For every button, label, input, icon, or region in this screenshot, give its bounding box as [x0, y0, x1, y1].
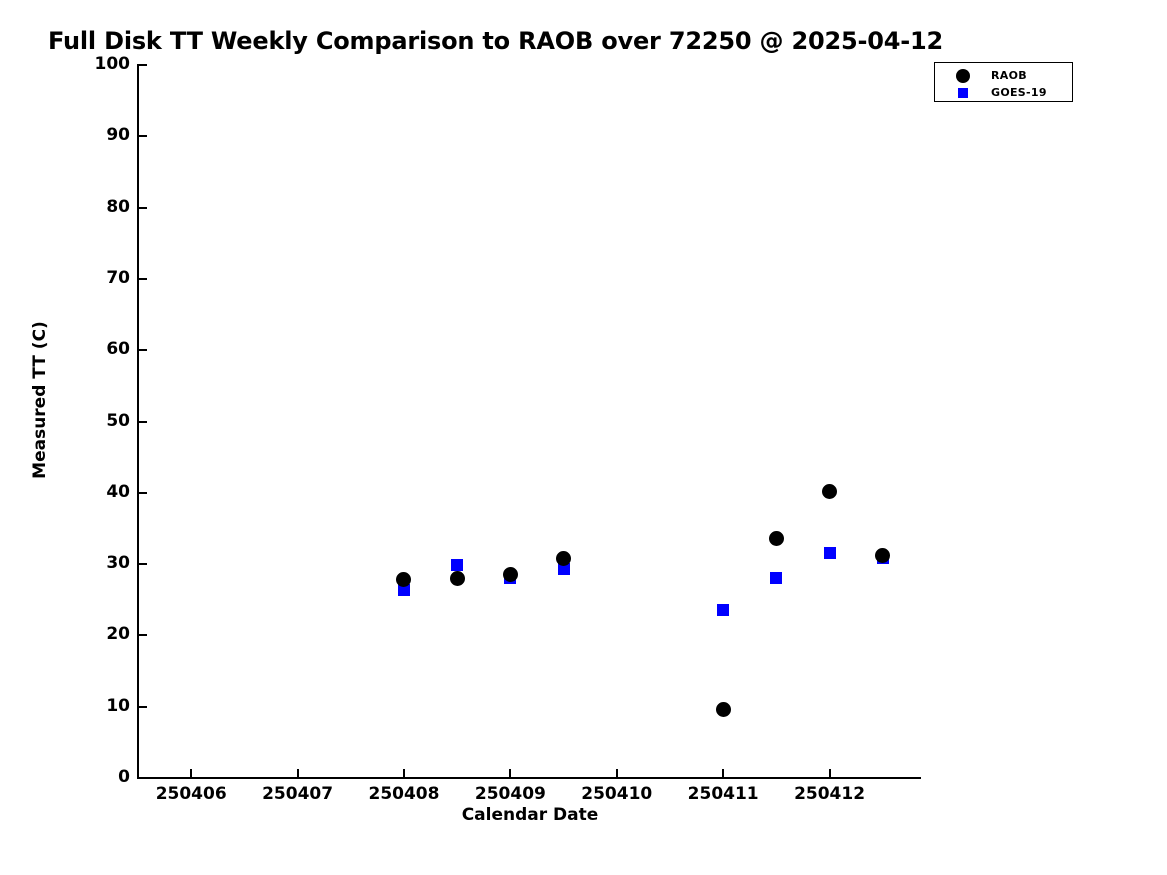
chart-figure: Full Disk TT Weekly Comparison to RAOB o… — [0, 0, 1167, 875]
legend-entry-raob: RAOB — [935, 67, 1074, 84]
y-tick — [139, 349, 147, 351]
x-tick — [297, 769, 299, 777]
data-point-raob — [716, 702, 731, 717]
y-axis-label: Measured TT (C) — [30, 270, 50, 530]
y-tick-label: 90 — [68, 127, 130, 144]
legend-label-goes19: GOES-19 — [991, 86, 1047, 99]
y-tick-label: 100 — [68, 56, 130, 73]
y-tick — [139, 207, 147, 209]
y-tick — [139, 135, 147, 137]
chart-legend: RAOB GOES-19 — [934, 62, 1073, 102]
y-tick — [139, 278, 147, 280]
y-tick — [139, 421, 147, 423]
data-point-raob — [503, 567, 518, 582]
y-tick-label: 30 — [68, 555, 130, 572]
x-tick — [616, 769, 618, 777]
y-tick-label: 50 — [68, 413, 130, 430]
legend-square-icon — [935, 88, 991, 98]
x-tick-label: 250412 — [760, 784, 900, 804]
y-tick — [139, 563, 147, 565]
data-point-raob — [822, 484, 837, 499]
data-point-goes-19 — [717, 604, 729, 616]
y-tick — [139, 777, 147, 779]
x-axis-spine — [137, 777, 921, 779]
y-tick — [139, 64, 147, 66]
y-tick-label: 10 — [68, 698, 130, 715]
y-tick — [139, 492, 147, 494]
y-tick — [139, 634, 147, 636]
legend-circle-icon — [935, 69, 991, 83]
data-point-goes-19 — [451, 559, 463, 571]
x-tick — [190, 769, 192, 777]
y-tick — [139, 706, 147, 708]
y-tick-label: 60 — [68, 341, 130, 358]
data-point-goes-19 — [824, 547, 836, 559]
y-tick-label: 20 — [68, 626, 130, 643]
data-point-raob — [450, 571, 465, 586]
x-tick — [403, 769, 405, 777]
y-tick-label: 40 — [68, 484, 130, 501]
x-tick — [829, 769, 831, 777]
x-tick — [509, 769, 511, 777]
y-tick-label: 70 — [68, 270, 130, 287]
data-point-raob — [769, 531, 784, 546]
x-tick — [722, 769, 724, 777]
chart-title: Full Disk TT Weekly Comparison to RAOB o… — [48, 27, 943, 55]
legend-label-raob: RAOB — [991, 69, 1027, 82]
data-point-goes-19 — [770, 572, 782, 584]
legend-entry-goes19: GOES-19 — [935, 84, 1074, 101]
data-point-raob — [556, 551, 571, 566]
y-tick-label: 80 — [68, 199, 130, 216]
x-axis-label: Calendar Date — [0, 805, 1060, 825]
